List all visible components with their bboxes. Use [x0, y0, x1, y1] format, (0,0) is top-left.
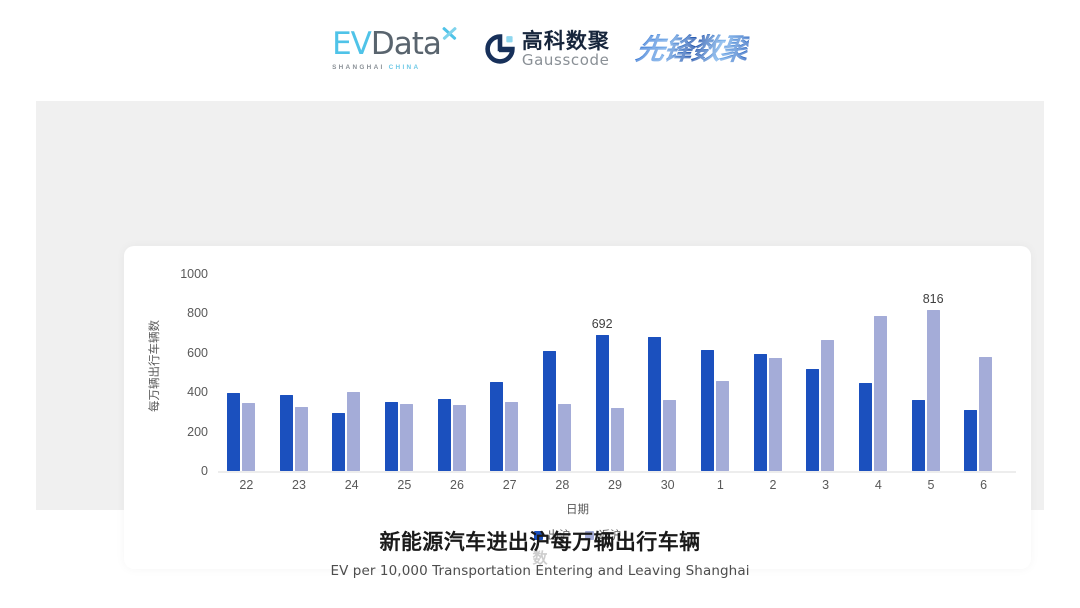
x-mark-icon — [439, 23, 459, 43]
bar-fanhu — [400, 404, 413, 471]
x-axis-tick: 24 — [345, 478, 359, 492]
chart-card: 每万辆出行车辆数 02004006008001000 692816 222324… — [124, 246, 1031, 569]
bar-fanhu — [769, 358, 782, 471]
x-axis-tick: 6 — [980, 478, 987, 492]
x-axis-tick: 4 — [875, 478, 882, 492]
bar-fanhu — [505, 402, 518, 471]
bar-chuhu — [912, 400, 925, 472]
bar-fanhu — [242, 403, 255, 471]
bar-fanhu — [874, 316, 887, 471]
x-axis-tick: 3 — [822, 478, 829, 492]
evdata-tagline: SHANGHAI CHINA — [332, 64, 420, 71]
bar-value-label: 816 — [923, 292, 944, 306]
x-axis-tick: 26 — [450, 478, 464, 492]
bar-chuhu — [648, 337, 661, 471]
x-axis-tick: 28 — [555, 478, 569, 492]
bar-group — [957, 274, 1010, 471]
gausscode-logo: 高科数聚 Gausscode — [485, 30, 610, 68]
bar-fanhu — [453, 405, 466, 471]
bar-group — [273, 274, 326, 471]
evdata-wordmark: EV Data — [332, 27, 459, 61]
bar-chuhu — [438, 399, 451, 471]
g-circle-mark-icon — [485, 34, 515, 64]
bar-group — [589, 274, 642, 471]
caption-title-en: EV per 10,000 Transportation Entering an… — [0, 562, 1080, 580]
bar-chuhu — [806, 369, 819, 471]
x-axis-tick: 5 — [928, 478, 935, 492]
bar-chuhu — [701, 350, 714, 471]
x-axis-tick: 2 — [770, 478, 777, 492]
logo-bar: EV Data SHANGHAI CHINA 高科数聚 Gausscod — [0, 18, 1080, 80]
bar-fanhu — [716, 381, 729, 471]
x-axis-tick: 30 — [661, 478, 675, 492]
x-axis-tick-labels: 222324252627282930123456 — [220, 478, 1010, 498]
bar-fanhu — [821, 340, 834, 471]
bar-chuhu — [596, 335, 609, 471]
bar-chuhu — [754, 354, 767, 471]
bar-group — [325, 274, 378, 471]
caption-title-cn: 新能源汽车进出沪每万辆出行车辆 — [0, 529, 1080, 556]
bar-chuhu — [490, 382, 503, 471]
bar-chuhu — [227, 393, 240, 471]
x-axis-tick: 22 — [239, 478, 253, 492]
y-axis-title: 每万辆出行车辆数 — [146, 270, 162, 462]
bar-chuhu — [385, 402, 398, 471]
x-axis-line — [218, 471, 1016, 473]
bar-chart: 每万辆出行车辆数 02004006008001000 692816 222324… — [124, 246, 1031, 569]
evdata-logo: EV Data SHANGHAI CHINA — [332, 27, 459, 71]
y-axis-tick: 800 — [187, 306, 208, 320]
bar-group — [431, 274, 484, 471]
gausscode-wordmark: 高科数聚 Gausscode — [522, 30, 610, 68]
x-axis-tick: 23 — [292, 478, 306, 492]
bar-chuhu — [964, 410, 977, 471]
bar-fanhu — [558, 404, 571, 471]
xianfeng-shuju-logo: 先锋数聚 — [633, 31, 750, 67]
gausscode-text-en: Gausscode — [522, 52, 610, 68]
bar-value-label: 692 — [592, 317, 613, 331]
bar-fanhu — [979, 357, 992, 471]
evdata-text-secondary: Data — [371, 27, 441, 61]
bar-chuhu — [280, 395, 293, 471]
evdata-text-primary: EV — [332, 27, 371, 61]
bar-group — [536, 274, 589, 471]
y-axis-tick: 400 — [187, 385, 208, 399]
bar-chuhu — [332, 413, 345, 471]
slide-page: EV Data SHANGHAI CHINA 高科数聚 Gausscod — [0, 0, 1080, 608]
bar-fanhu — [663, 400, 676, 471]
bar-group — [747, 274, 800, 471]
x-axis-tick: 25 — [397, 478, 411, 492]
plot-area: 692816 — [220, 274, 1010, 471]
bar-group — [483, 274, 536, 471]
bar-group — [220, 274, 273, 471]
x-axis-tick: 29 — [608, 478, 622, 492]
bar-fanhu — [927, 310, 940, 471]
x-axis-tick: 1 — [717, 478, 724, 492]
y-axis-tick-labels: 02004006008001000 — [168, 246, 214, 486]
evdata-tagline-country: CHINA — [389, 64, 421, 71]
bar-fanhu — [347, 392, 360, 471]
y-axis-tick: 1000 — [180, 267, 208, 281]
x-axis-tick: 27 — [503, 478, 517, 492]
bar-group — [799, 274, 852, 471]
chart-panel-background: 每万辆出行车辆数 02004006008001000 692816 222324… — [36, 101, 1044, 510]
caption: 新能源汽车进出沪每万辆出行车辆 EV per 10,000 Transporta… — [0, 529, 1080, 580]
bar-group — [641, 274, 694, 471]
gausscode-text-cn: 高科数聚 — [522, 30, 610, 52]
y-axis-tick: 200 — [187, 425, 208, 439]
bar-chuhu — [543, 351, 556, 471]
bar-fanhu — [611, 408, 624, 471]
y-axis-tick: 0 — [201, 464, 208, 478]
evdata-tagline-city: SHANGHAI — [332, 64, 384, 71]
bar-group — [378, 274, 431, 471]
y-axis-tick: 600 — [187, 346, 208, 360]
bar-group — [694, 274, 747, 471]
x-axis-title: 日期 — [124, 501, 1031, 517]
bar-fanhu — [295, 407, 308, 471]
bar-group — [852, 274, 905, 471]
bar-chuhu — [859, 383, 872, 471]
